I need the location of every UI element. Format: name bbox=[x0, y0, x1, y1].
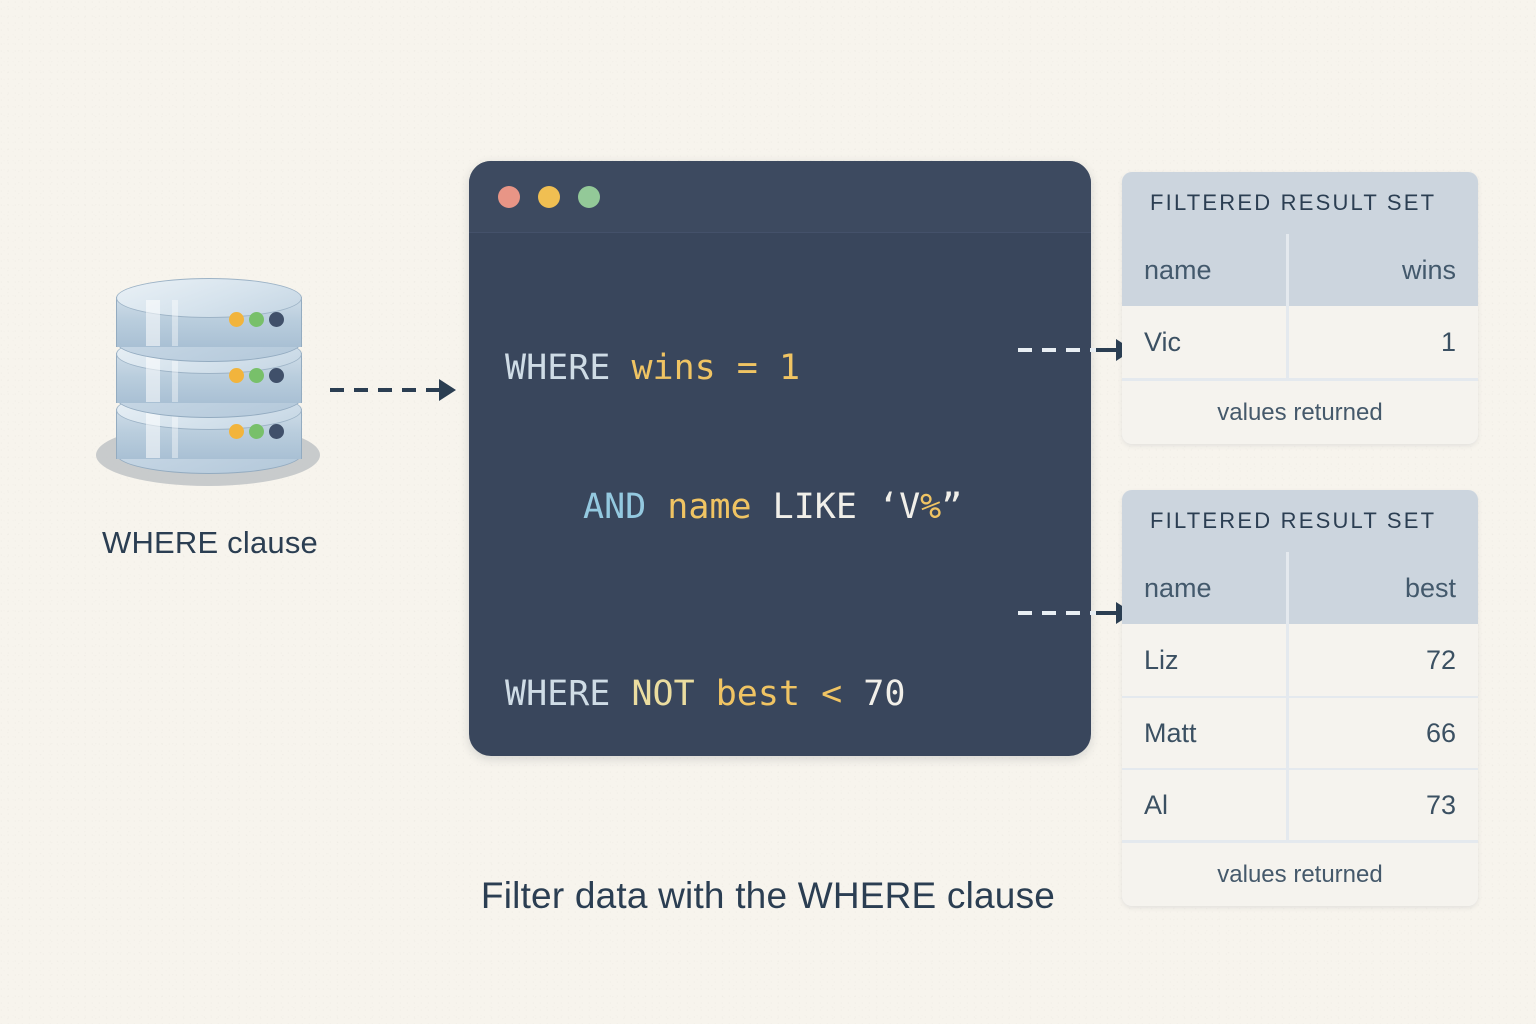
database-led-group-top bbox=[229, 312, 284, 327]
column-header-value: wins bbox=[1289, 234, 1478, 306]
cell-value: 1 bbox=[1289, 306, 1478, 378]
code-line-where-not-best-a: WHERE NOT best < 70 bbox=[505, 677, 1091, 712]
code-editor-area[interactable]: WHERE wins = 1 AND name LIKE ‘V%” WHERE … bbox=[469, 233, 1091, 756]
column-header-value: best bbox=[1289, 552, 1478, 624]
result-set-title: FILTERED RESULT SET bbox=[1122, 490, 1478, 552]
code-token: WHERE bbox=[505, 348, 631, 388]
led-orange-icon bbox=[229, 368, 244, 383]
led-dark-icon bbox=[269, 424, 284, 439]
minimize-button-icon[interactable] bbox=[538, 186, 560, 208]
code-token: 70 bbox=[863, 674, 905, 714]
led-green-icon bbox=[249, 424, 264, 439]
close-button-icon[interactable] bbox=[498, 186, 520, 208]
code-token: name bbox=[667, 487, 772, 527]
led-green-icon bbox=[249, 368, 264, 383]
arrow-code-to-table-1 bbox=[1018, 335, 1136, 365]
figure-caption: Filter data with the WHERE clause bbox=[0, 875, 1536, 917]
maximize-button-icon[interactable] bbox=[578, 186, 600, 208]
filtered-result-set-card-2: FILTERED RESULT SET name best Liz 72 Mat… bbox=[1122, 490, 1478, 906]
arrow-dashes bbox=[330, 388, 440, 392]
led-orange-icon bbox=[229, 312, 244, 327]
code-window: WHERE wins = 1 AND name LIKE ‘V%” WHERE … bbox=[469, 161, 1091, 756]
arrow-dashes-inside-window bbox=[1018, 348, 1096, 352]
table-row: Liz 72 bbox=[1122, 624, 1478, 696]
column-header-name: name bbox=[1122, 552, 1289, 624]
database-led-group-bottom bbox=[229, 424, 284, 439]
database-disc-top bbox=[116, 278, 302, 364]
database-led-group-middle bbox=[229, 368, 284, 383]
result-table-2: name best Liz 72 Matt 66 Al 73 bbox=[1122, 552, 1478, 840]
code-token: % bbox=[920, 487, 941, 527]
arrow-dashes-inside-window bbox=[1018, 611, 1096, 615]
led-orange-icon bbox=[229, 424, 244, 439]
led-dark-icon bbox=[269, 368, 284, 383]
table-row: Matt 66 bbox=[1122, 696, 1478, 768]
cell-value: 72 bbox=[1289, 624, 1478, 696]
column-header-name: name bbox=[1122, 234, 1289, 306]
table-row: Vic 1 bbox=[1122, 306, 1478, 378]
result-set-title: FILTERED RESULT SET bbox=[1122, 172, 1478, 234]
filtered-result-set-card-1: FILTERED RESULT SET name wins Vic 1 valu… bbox=[1122, 172, 1478, 444]
result-table-1: name wins Vic 1 bbox=[1122, 234, 1478, 378]
led-green-icon bbox=[249, 312, 264, 327]
code-token: ” bbox=[941, 487, 962, 527]
cell-name: Liz bbox=[1122, 624, 1289, 696]
arrow-code-to-table-2 bbox=[1018, 598, 1136, 628]
arrow-database-to-code bbox=[330, 375, 475, 405]
database-icon bbox=[88, 272, 328, 494]
code-token: wins = 1 bbox=[631, 348, 800, 388]
table-header-row: name best bbox=[1122, 552, 1478, 624]
table-header-row: name wins bbox=[1122, 234, 1478, 306]
code-token: NOT bbox=[631, 674, 715, 714]
code-token: LIKE bbox=[773, 487, 878, 527]
cell-name: Vic bbox=[1122, 306, 1289, 378]
code-line-where-wins: WHERE wins = 1 bbox=[505, 351, 1091, 386]
code-token: best < bbox=[716, 674, 864, 714]
cell-value: 73 bbox=[1289, 768, 1478, 840]
cell-name: Matt bbox=[1122, 696, 1289, 768]
code-token: ‘V bbox=[878, 487, 920, 527]
code-token: WHERE bbox=[505, 674, 631, 714]
table-row: Al 73 bbox=[1122, 768, 1478, 840]
code-line-and-name-like: AND name LIKE ‘V%” bbox=[505, 490, 1091, 525]
cell-name: Al bbox=[1122, 768, 1289, 840]
arrow-shaft bbox=[1096, 611, 1118, 615]
result-footer: values returned bbox=[1122, 378, 1478, 444]
cell-value: 66 bbox=[1289, 696, 1478, 768]
arrow-shaft bbox=[1096, 348, 1118, 352]
code-token: AND bbox=[583, 487, 667, 527]
arrow-head-icon bbox=[439, 379, 456, 401]
window-titlebar bbox=[469, 161, 1091, 233]
led-dark-icon bbox=[269, 312, 284, 327]
database-label: WHERE clause bbox=[0, 525, 420, 561]
